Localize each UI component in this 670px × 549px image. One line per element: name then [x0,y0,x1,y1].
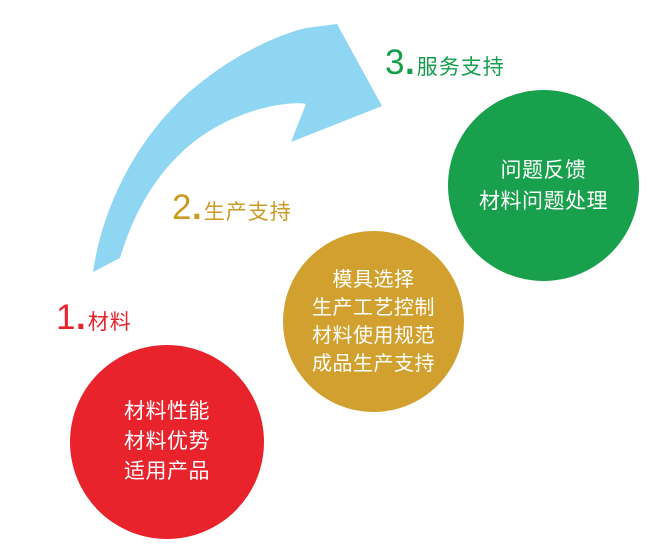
step-number-1: 1 [56,300,75,335]
step-number-3: 3 [385,45,404,80]
process-diagram: 1 . 材料 2 . 生产支持 3 . 服务支持 材料性能 材料优势 适用产品 … [0,0,670,549]
circle-item: 模具选择 [333,266,415,294]
circle-item: 生产工艺控制 [312,294,435,322]
circle-item: 适用产品 [124,457,210,487]
step-separator-3: . [405,45,415,80]
arrow-shape [93,24,382,272]
step-label-2: 2 . 生产支持 [172,190,292,225]
step-separator-1: . [76,300,86,335]
step-title-3: 服务支持 [417,57,505,78]
circle-item: 材料优势 [124,427,210,457]
step-separator-2: . [192,190,202,225]
step-label-3: 3 . 服务支持 [385,45,505,80]
circle-item: 材料使用规范 [312,322,435,350]
step-circle-production: 模具选择 生产工艺控制 材料使用规范 成品生产支持 [283,231,464,412]
step-title-2: 生产支持 [204,202,292,223]
circle-item: 问题反馈 [501,155,587,186]
step-circle-material: 材料性能 材料优势 适用产品 [70,345,264,539]
circle-item: 材料问题处理 [479,186,608,217]
circle-item: 材料性能 [124,397,210,427]
circle-item: 成品生产支持 [312,350,435,378]
step-circle-service: 问题反馈 材料问题处理 [448,90,639,281]
step-title-1: 材料 [88,312,132,333]
step-label-1: 1 . 材料 [56,300,132,335]
step-number-2: 2 [172,190,191,225]
